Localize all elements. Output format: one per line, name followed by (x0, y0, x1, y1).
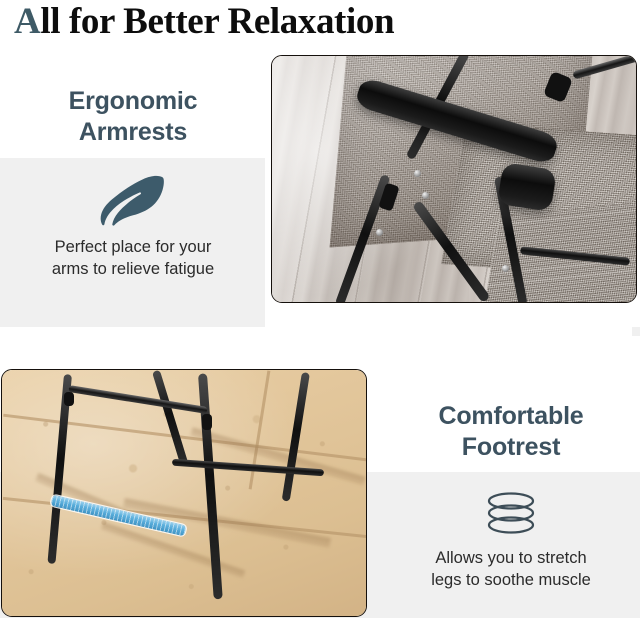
footrest-bar-photo (1, 369, 367, 617)
feature-heading-footrest: Comfortable Footrest (382, 401, 640, 463)
crossbar-joint-right (202, 414, 212, 430)
page-title: All for Better Relaxation (14, 0, 634, 46)
feature-heading-armrests: Ergonomic Armrests (4, 86, 262, 148)
crossbar-joint-left (64, 392, 74, 406)
feature-description-footrest-line1: Allows you to stretch (382, 547, 640, 569)
page-title-initial: A (14, 1, 40, 42)
feature-description-armrests-line1: Perfect place for your (4, 236, 262, 258)
frame-rivet-rail (502, 265, 509, 272)
feature-description-armrests-line2: arms to relieve fatigue (4, 258, 262, 280)
feature-heading-armrests-line2: Armrests (4, 117, 262, 148)
feature-block-comfortable-footrest: Comfortable Footrest Allows you to stret… (382, 401, 640, 591)
frame-rivet-upper (414, 170, 421, 177)
feature-description-footrest-line2: legs to soothe muscle (382, 569, 640, 591)
spring-coil-icon-wrapper (382, 489, 640, 537)
armrest-closeup-photo (271, 55, 637, 303)
feature-heading-armrests-line1: Ergonomic (4, 86, 262, 117)
spring-coil-icon (485, 491, 537, 535)
leaf-icon-wrapper (4, 172, 262, 228)
feature-block-ergonomic-armrests: Ergonomic Armrests Perfect place for you… (4, 86, 262, 280)
frame-rivet-mid (422, 192, 429, 199)
feature-description-armrests: Perfect place for your arms to relieve f… (4, 236, 262, 280)
band-edge-sliver-right (632, 327, 640, 336)
product-feature-page: All for Better Relaxation Ergonomic Armr… (0, 0, 640, 618)
feature-description-footrest: Allows you to stretch legs to soothe mus… (382, 547, 640, 591)
armrest-pad-front-end (497, 162, 557, 212)
frame-rivet-lower (376, 229, 383, 236)
feature-heading-footrest-line1: Comfortable (382, 401, 640, 432)
feature-heading-footrest-line2: Footrest (382, 432, 640, 463)
leaf-icon (99, 173, 167, 227)
page-title-rest: ll for Better Relaxation (40, 1, 394, 42)
